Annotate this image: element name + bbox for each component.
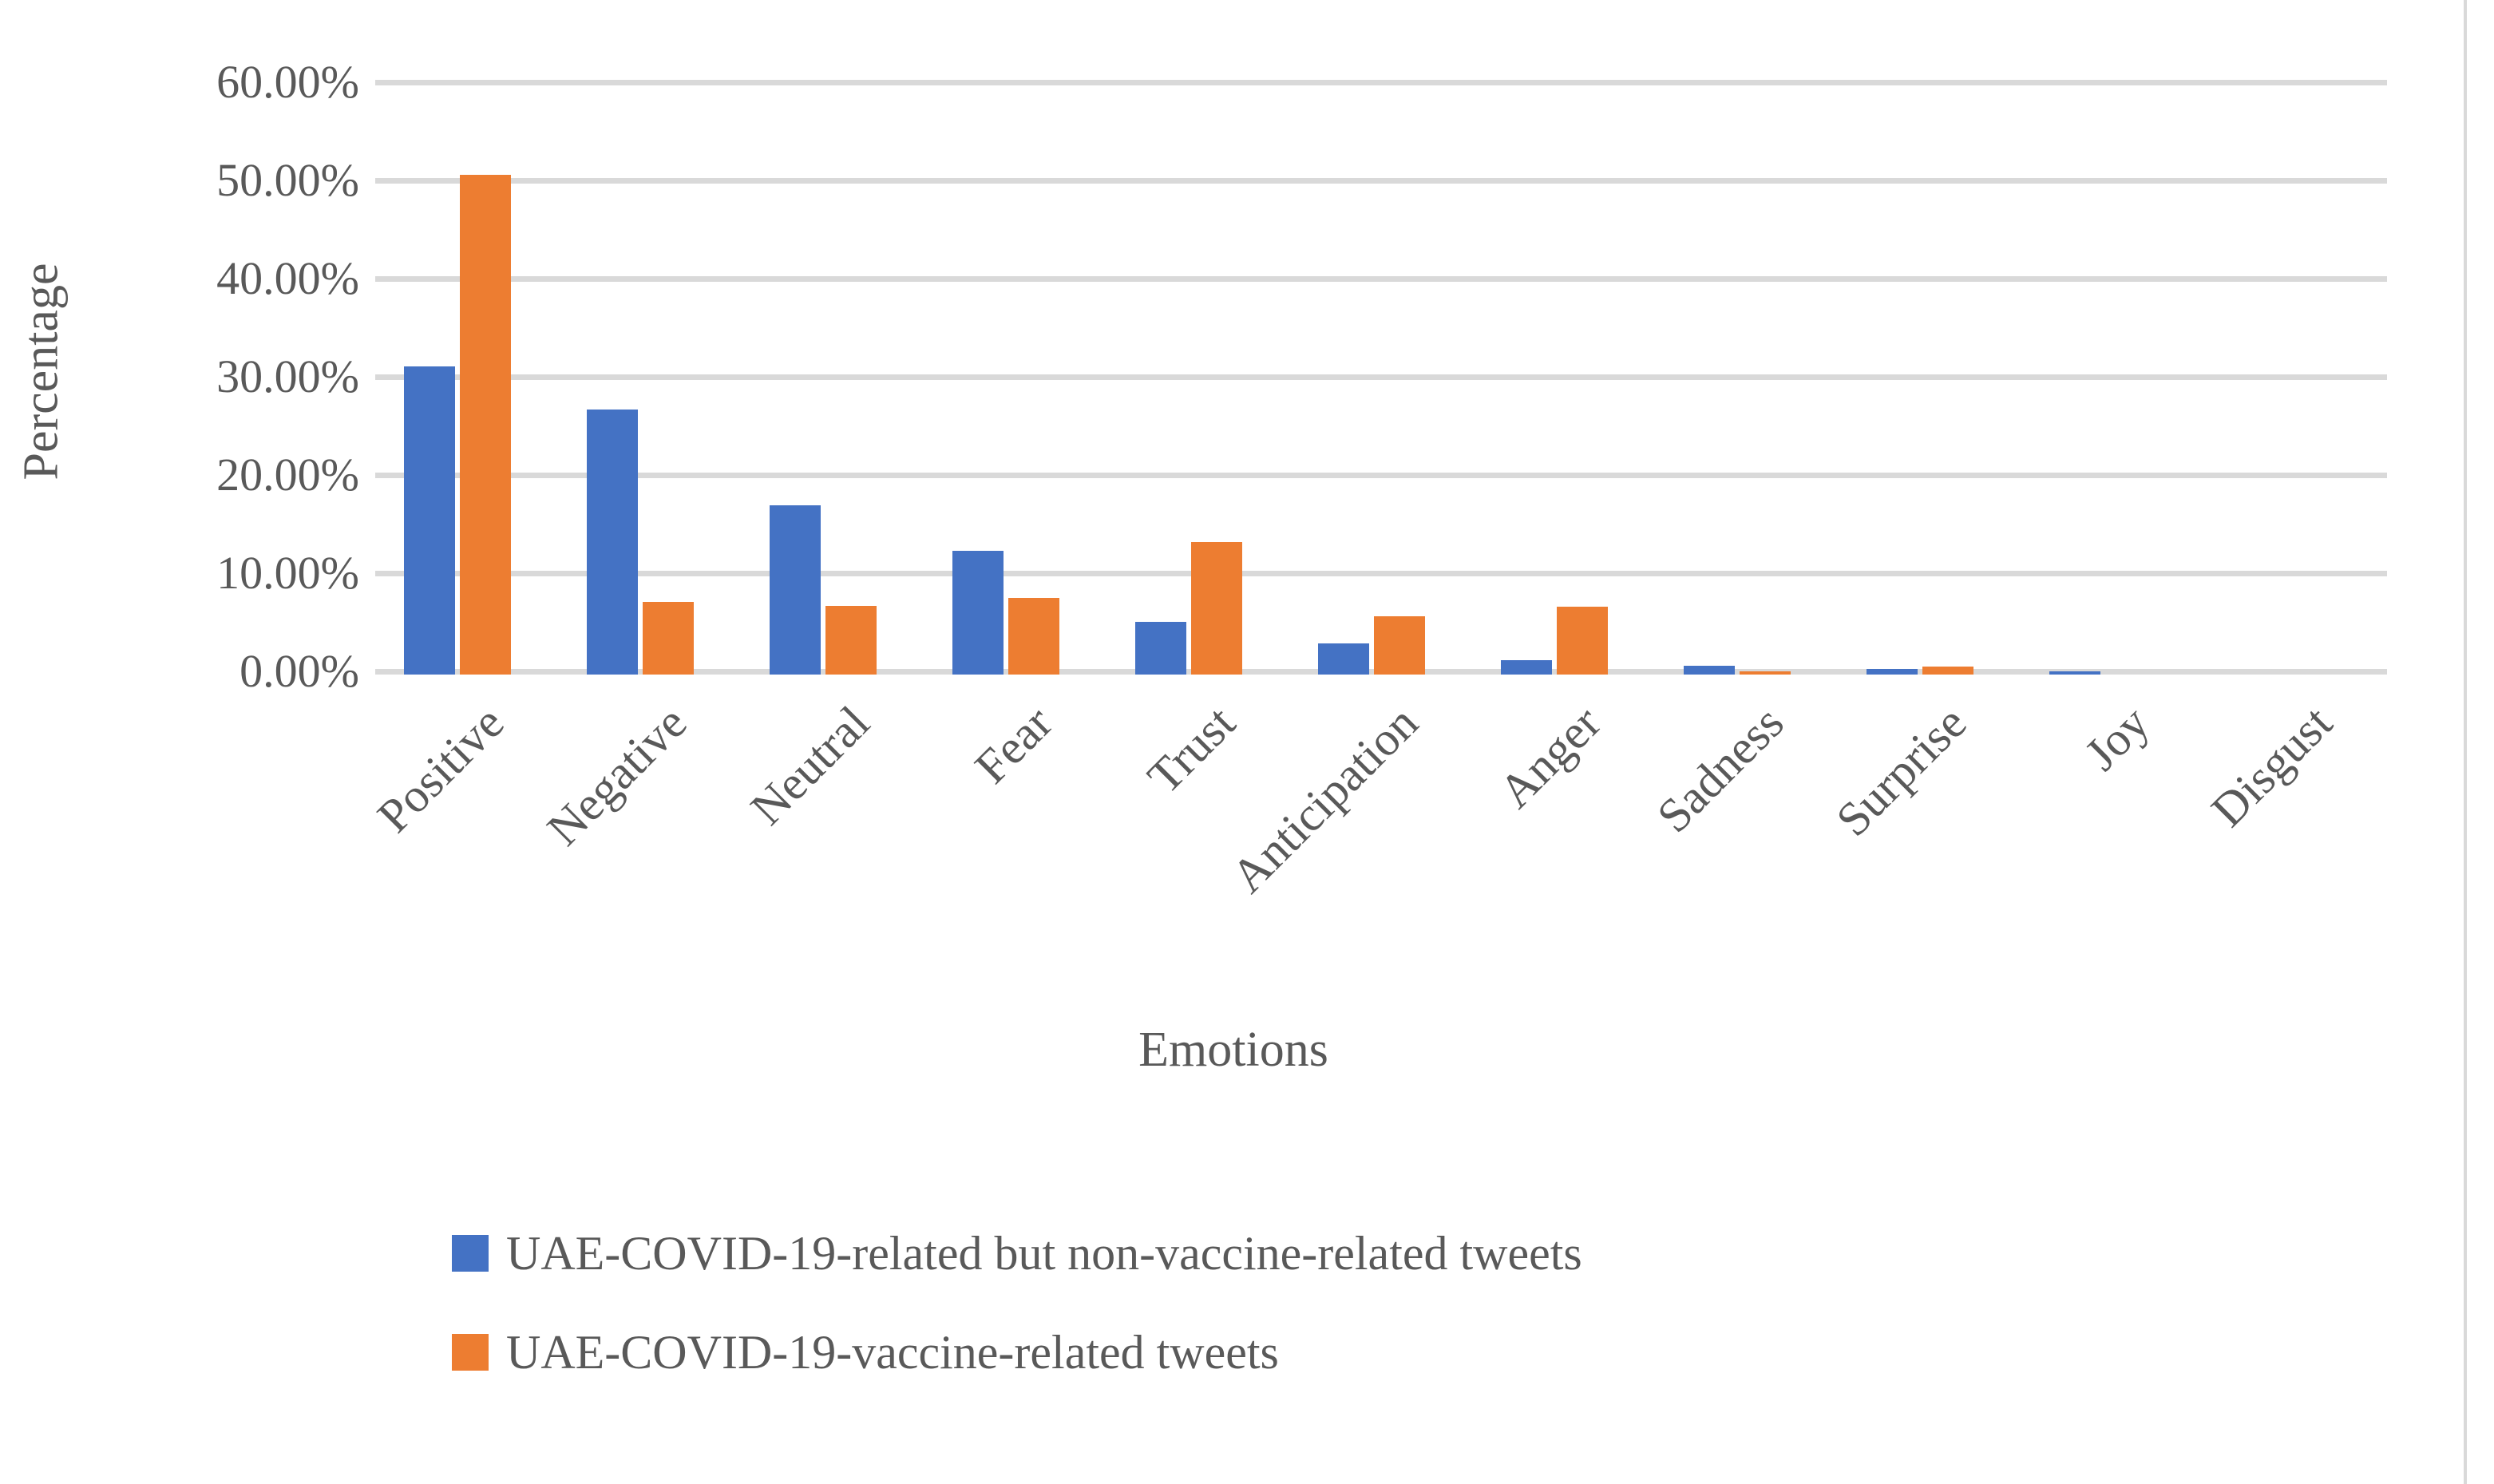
bar[interactable] [1501,660,1552,675]
y-axis-tick-label: 40.00% [216,255,359,302]
x-axis-tick-labels: PositiveNegativeNeutralFearTrustAnticipa… [375,687,2387,894]
y-axis-tick-label: 30.00% [216,354,359,400]
bar-chart: Percentage 0.00%10.00%20.00%30.00%40.00%… [0,0,2494,1484]
bar[interactable] [1557,607,1608,675]
bar[interactable] [1135,622,1186,675]
bar[interactable] [952,551,1004,675]
page-border [2464,0,2467,1484]
bar[interactable] [1922,667,1973,675]
bar[interactable] [770,505,821,675]
bar[interactable] [1740,671,1791,675]
bar[interactable] [1191,542,1242,675]
bar[interactable] [1867,669,1918,675]
plot-area [375,80,2387,680]
bar[interactable] [404,366,455,675]
y-axis-tick-label: 20.00% [216,452,359,498]
bar[interactable] [587,410,638,675]
bar-group [1289,80,1472,680]
y-axis-title: Percentage [14,204,70,540]
bar[interactable] [1684,666,1735,675]
bar-group [924,80,1106,680]
bar-group [2021,80,2204,680]
chart-legend: UAE-COVID-19-related but non-vaccine-rel… [452,1204,2208,1402]
bar[interactable] [643,602,694,675]
legend-item[interactable]: UAE-COVID-19-related but non-vaccine-rel… [452,1204,2208,1303]
bar-group [1473,80,1656,680]
y-axis-tick-label: 0.00% [240,648,359,695]
bar-group [558,80,741,680]
bar-group [375,80,558,680]
x-axis-title: Emotions [0,1022,2467,1078]
bar[interactable] [1318,643,1369,675]
bar[interactable] [460,175,511,675]
legend-item[interactable]: UAE-COVID-19-vaccine-related tweets [452,1303,2208,1402]
y-axis-tick-labels: 0.00%10.00%20.00%30.00%40.00%50.00%60.00… [104,48,359,687]
bar[interactable] [825,606,877,675]
legend-item-label: UAE-COVID-19-related but non-vaccine-rel… [506,1228,1582,1279]
bar-group [741,80,924,680]
y-axis-tick-label: 50.00% [216,157,359,204]
bar-group [1656,80,1839,680]
bar[interactable] [2049,671,2100,675]
legend-swatch-icon [452,1235,489,1272]
bar-group [1839,80,2021,680]
bar[interactable] [1374,616,1425,675]
bar[interactable] [1008,598,1059,675]
bar-group [1106,80,1289,680]
bar-group [2204,80,2387,680]
y-axis-tick-label: 60.00% [216,59,359,105]
legend-item-label: UAE-COVID-19-vaccine-related tweets [506,1327,1279,1378]
legend-swatch-icon [452,1334,489,1371]
y-axis-tick-label: 10.00% [216,550,359,596]
